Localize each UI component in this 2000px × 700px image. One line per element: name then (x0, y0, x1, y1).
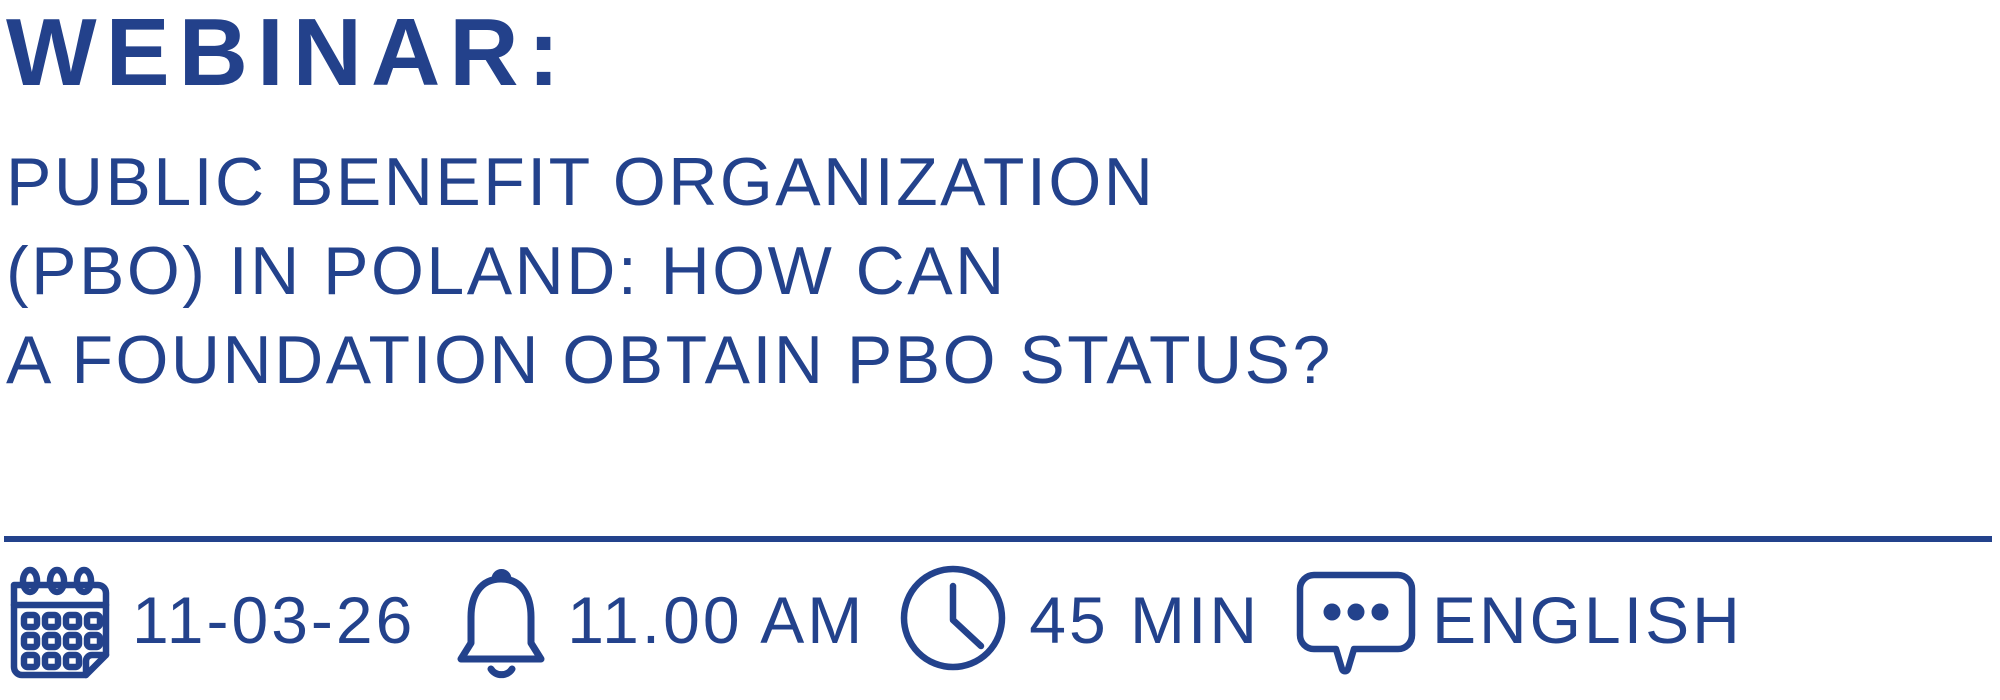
meta-item-duration: 45 MIN (895, 558, 1260, 678)
webinar-meta-bar: 11-03-26 11.00 AM (0, 548, 2000, 688)
meta-label-date: 11-03-26 (110, 587, 415, 653)
horizontal-divider (4, 536, 1992, 542)
meta-label-duration: 45 MIN (1011, 587, 1260, 653)
page-title-line-2: (PBO) IN POLAND: HOW CAN (6, 227, 1333, 316)
calendar-icon (2, 557, 110, 679)
meta-label-language: ENGLISH (1420, 587, 1743, 653)
webinar-banner: WEBINAR: PUBLIC BENEFIT ORGANIZATION (PB… (0, 0, 2000, 700)
meta-item-date: 11-03-26 (0, 557, 415, 679)
page-title: PUBLIC BENEFIT ORGANIZATION (PBO) IN POL… (6, 138, 1333, 405)
page-title-line-3: A FOUNDATION OBTAIN PBO STATUS? (6, 316, 1333, 405)
meta-label-time: 11.00 AM (553, 587, 865, 653)
meta-item-language: ENGLISH (1292, 557, 1743, 679)
bell-icon (449, 555, 553, 681)
page-title-line-1: PUBLIC BENEFIT ORGANIZATION (6, 138, 1333, 227)
clock-icon (895, 558, 1011, 678)
page-kicker: WEBINAR: (6, 0, 569, 109)
meta-item-time: 11.00 AM (449, 555, 865, 681)
speech-bubble-icon (1292, 557, 1420, 679)
